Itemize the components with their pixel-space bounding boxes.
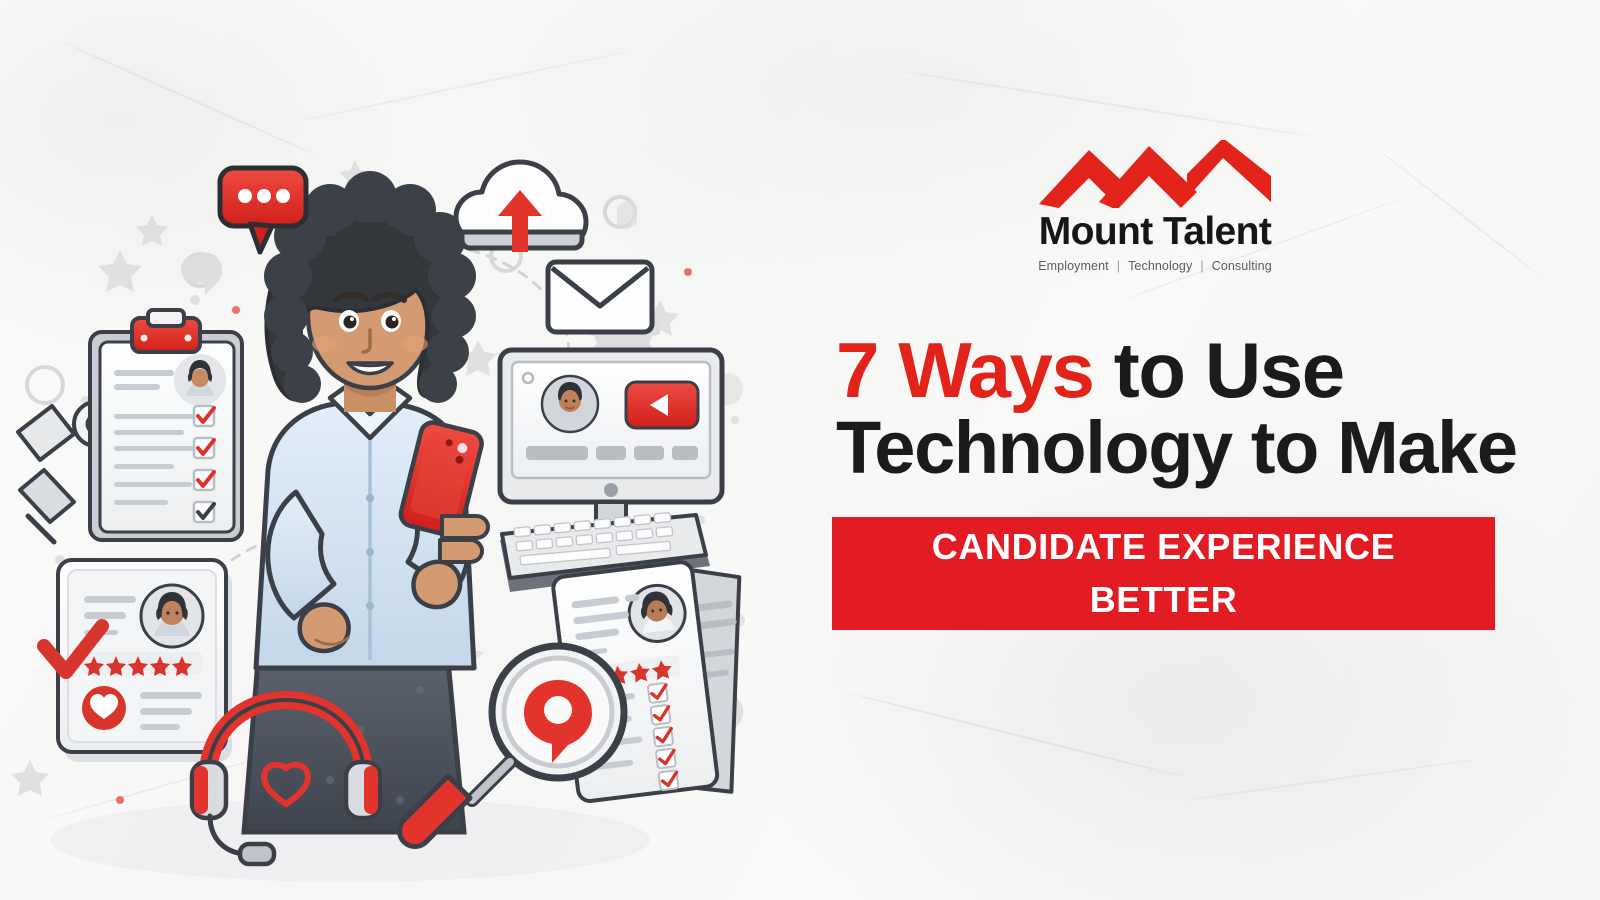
promo-bar: CANDIDATE EXPERIENCE BETTER [832, 517, 1495, 630]
envelope-icon [548, 262, 652, 332]
marble-vein [840, 690, 1190, 779]
tagline-part-employment: Employment [1038, 259, 1108, 273]
headline-block: 7 Ways to Use Technology to Make [836, 330, 1506, 487]
headline-highlight: 7 Ways [836, 326, 1094, 414]
mountain-chevron-mark [1037, 140, 1273, 208]
marble-vein [900, 70, 1315, 138]
tagline-part-technology: Technology [1128, 259, 1192, 273]
brand-logo[interactable]: Mount Talent Employment|Technology|Consu… [1030, 140, 1280, 273]
cloud-upload-icon [456, 162, 586, 252]
tagline-separator: | [1200, 259, 1203, 273]
promo-line-1: CANDIDATE EXPERIENCE [932, 521, 1395, 573]
recruiter-person [244, 171, 488, 832]
brand-tagline: Employment|Technology|Consulting [1030, 259, 1280, 273]
clipboard-resume [90, 310, 242, 540]
marble-vein [1180, 758, 1477, 802]
brand-name: Mount Talent [1030, 212, 1280, 251]
tagline-part-consulting: Consulting [1212, 259, 1272, 273]
candidate-profile-card [44, 560, 232, 762]
marble-vein [1379, 150, 1538, 275]
tagline-separator: | [1117, 259, 1120, 273]
hero-illustration [0, 0, 800, 900]
headline-line-2: Technology to Make [836, 410, 1506, 486]
headline-line-1: 7 Ways to Use [836, 330, 1506, 410]
promotional-banner: Mount Talent Employment|Technology|Consu… [0, 0, 1600, 900]
promo-line-2: BETTER [1090, 574, 1238, 626]
headline-line-1-rest: to Use [1094, 326, 1344, 414]
